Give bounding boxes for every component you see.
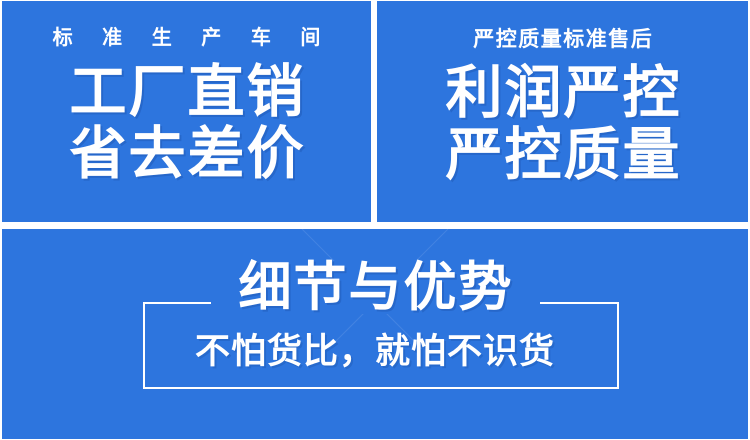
quality-text-block: 严控质量标准售后 利润严控 严控质量 <box>377 1 748 186</box>
quality-headline-line-2: 严控质量 <box>377 125 748 185</box>
panel-details-and-advantages: 细节与优势 不怕货比，就怕不识货 <box>2 229 748 439</box>
quality-headline-line-1: 利润严控 <box>377 63 748 123</box>
details-subtitle-row: 不怕货比，就怕不识货 <box>2 334 748 369</box>
panel-quality-control: 严控质量标准售后 利润严控 严控质量 <box>377 1 748 222</box>
quality-eyebrow-label: 严控质量标准售后 <box>377 29 748 50</box>
factory-text-block: 标 准 生 产 车 间 工厂直销 省去差价 <box>2 1 371 185</box>
factory-headline-line-1: 工厂直销 <box>2 62 371 122</box>
promo-banner: 标 准 生 产 车 间 工厂直销 省去差价 严控质量标准售后 利润严控 严控质量… <box>0 0 750 440</box>
factory-eyebrow-label: 标 准 生 产 车 间 <box>2 28 371 48</box>
factory-headline-line-2: 省去差价 <box>2 124 371 184</box>
details-subtitle: 不怕货比，就怕不识货 <box>195 332 555 371</box>
panel-factory-direct-sales: 标 准 生 产 车 间 工厂直销 省去差价 <box>2 1 371 222</box>
